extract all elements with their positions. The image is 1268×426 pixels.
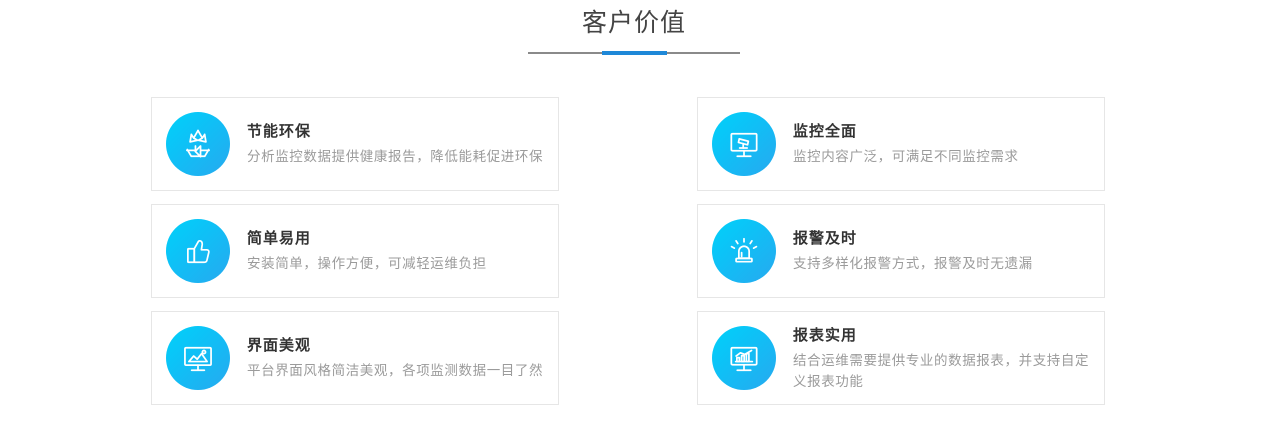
title-divider: [528, 52, 740, 54]
card-title: 报表实用: [793, 325, 1090, 347]
card-text: 报警及时 支持多样化报警方式，报警及时无遗漏: [793, 228, 1090, 274]
title-divider-accent: [602, 51, 667, 55]
card-text: 节能环保 分析监控数据提供健康报告，降低能耗促进环保: [247, 121, 544, 167]
section-header: 客户价值: [0, 6, 1268, 54]
card-text: 简单易用 安装简单，操作方便，可减轻运维负担: [247, 228, 544, 274]
card-title: 监控全面: [793, 121, 1090, 143]
card-title: 节能环保: [247, 121, 544, 143]
value-card-grid: 节能环保 分析监控数据提供健康报告，降低能耗促进环保 简单易用 安装简单，操作方…: [151, 97, 1117, 405]
card-description: 平台界面风格简洁美观，各项监测数据一目了然: [247, 360, 544, 381]
monitor-camera-icon: [712, 112, 776, 176]
card-title: 界面美观: [247, 335, 544, 357]
card-text: 报表实用 结合运维需要提供专业的数据报表，并支持自定义报表功能: [793, 325, 1090, 392]
page-title: 客户价值: [0, 6, 1268, 40]
card-description: 分析监控数据提供健康报告，降低能耗促进环保: [247, 146, 544, 167]
card-title: 简单易用: [247, 228, 544, 250]
value-card-beautiful-ui[interactable]: 界面美观 平台界面风格简洁美观，各项监测数据一目了然: [151, 311, 559, 405]
recycle-icon: [166, 112, 230, 176]
card-text: 监控全面 监控内容广泛，可满足不同监控需求: [793, 121, 1090, 167]
monitor-chart-icon: [712, 326, 776, 390]
monitor-image-icon: [166, 326, 230, 390]
card-description: 监控内容广泛，可满足不同监控需求: [793, 146, 1090, 167]
alarm-siren-icon: [712, 219, 776, 283]
value-card-comprehensive-monitoring[interactable]: 监控全面 监控内容广泛，可满足不同监控需求: [697, 97, 1105, 191]
card-text: 界面美观 平台界面风格简洁美观，各项监测数据一目了然: [247, 335, 544, 381]
card-description: 安装简单，操作方便，可减轻运维负担: [247, 253, 544, 274]
card-description: 支持多样化报警方式，报警及时无遗漏: [793, 253, 1090, 274]
card-description: 结合运维需要提供专业的数据报表，并支持自定义报表功能: [793, 350, 1090, 392]
value-card-energy-saving[interactable]: 节能环保 分析监控数据提供健康报告，降低能耗促进环保: [151, 97, 559, 191]
card-title: 报警及时: [793, 228, 1090, 250]
value-card-timely-alarm[interactable]: 报警及时 支持多样化报警方式，报警及时无遗漏: [697, 204, 1105, 298]
thumbs-up-icon: [166, 219, 230, 283]
value-card-easy-to-use[interactable]: 简单易用 安装简单，操作方便，可减轻运维负担: [151, 204, 559, 298]
value-card-practical-reports[interactable]: 报表实用 结合运维需要提供专业的数据报表，并支持自定义报表功能: [697, 311, 1105, 405]
customer-value-section: 客户价值 节能环保 分析监控数据提供健康报告，降低能耗促进环保: [0, 0, 1268, 426]
